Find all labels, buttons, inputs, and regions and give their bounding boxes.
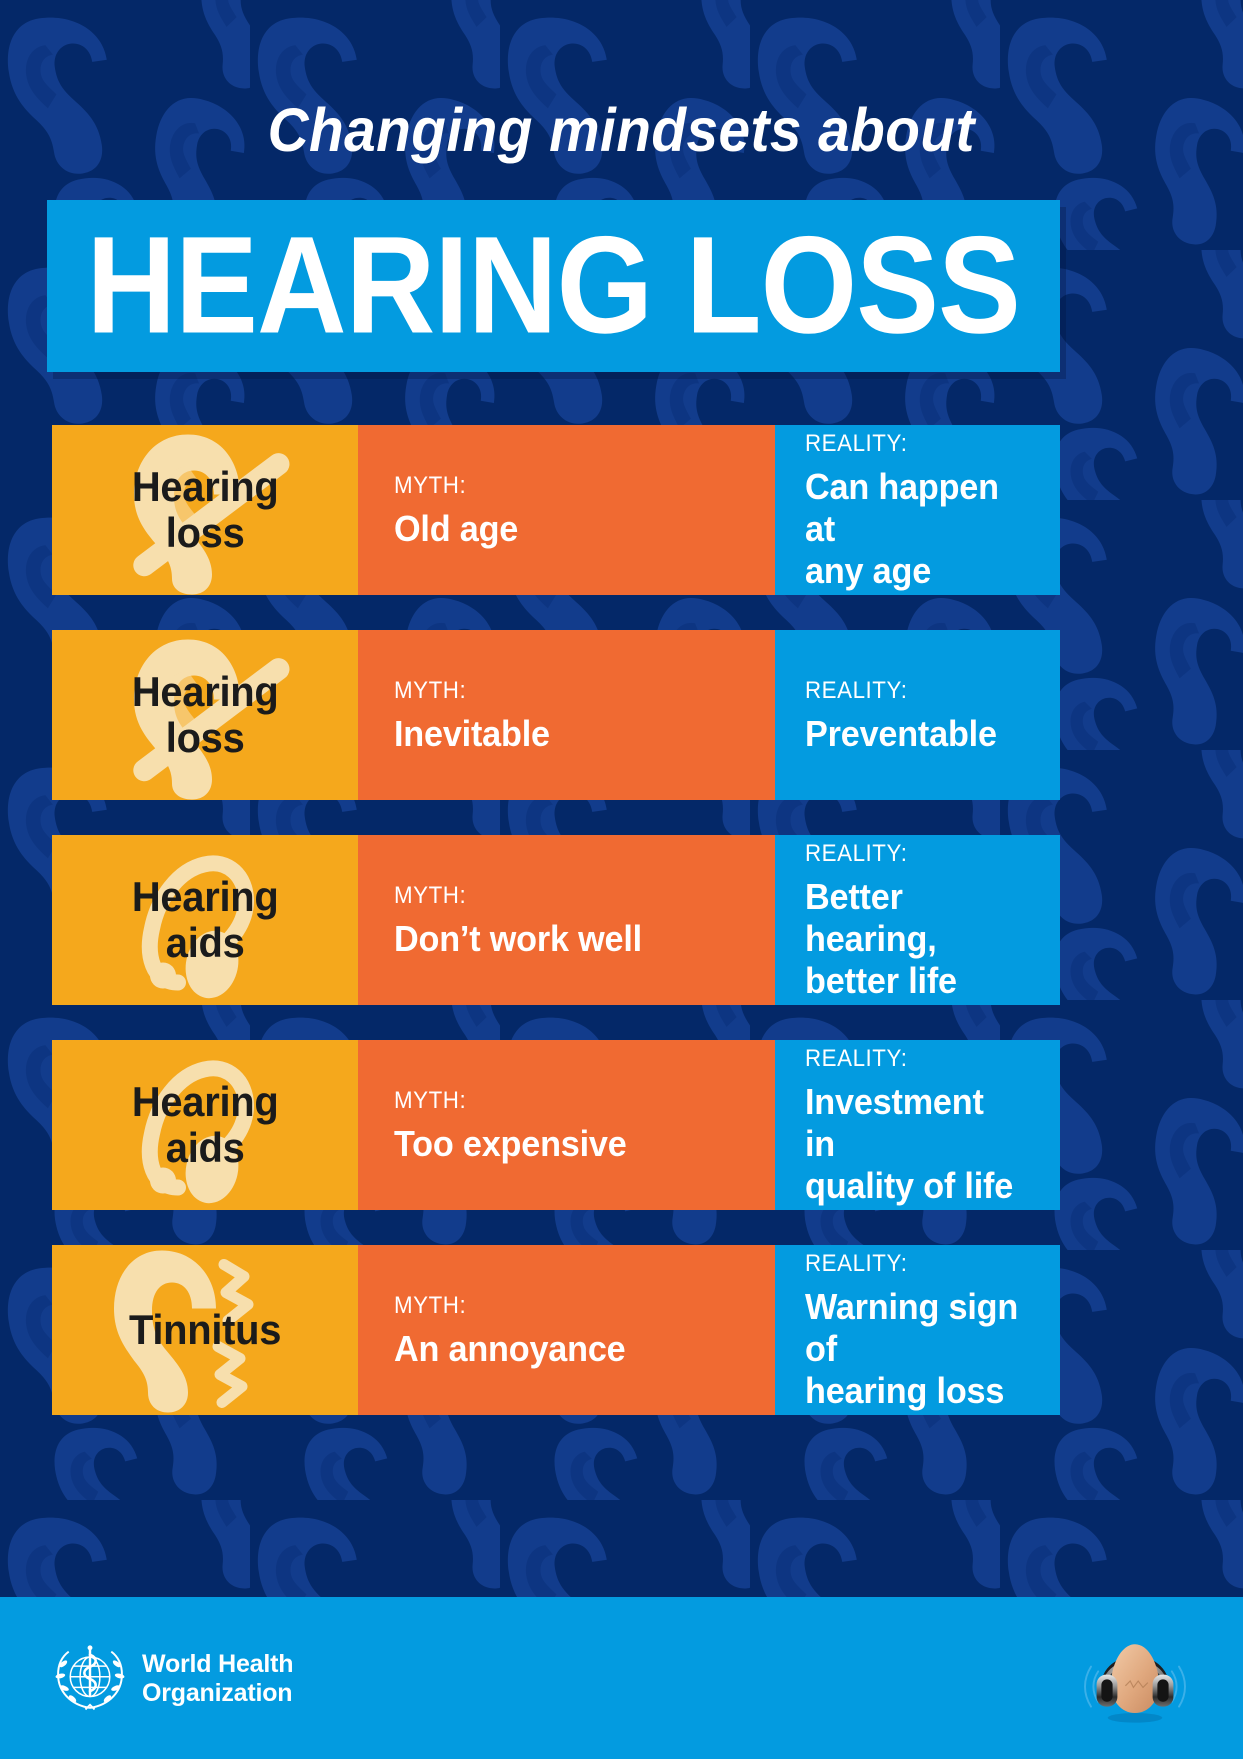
topic-cell: Hearingaids: [52, 1040, 358, 1210]
myth-reality-row: HearingaidsMYTH:Too expensiveREALITY:Inv…: [52, 1040, 1060, 1210]
poster-title-block: Changing mindsets about: [0, 96, 1243, 164]
topic-label: Hearingaids: [132, 874, 279, 966]
reality-kicker: REALITY:: [805, 839, 1018, 869]
reality-text: Preventable: [805, 713, 1023, 755]
reality-kicker: REALITY:: [805, 429, 1018, 459]
reality-text: Investment inquality of life: [805, 1081, 1023, 1207]
poster-footer: World Health Organization: [0, 1597, 1243, 1759]
myth-kicker: MYTH:: [394, 1291, 720, 1321]
reality-text: Can happen atany age: [805, 466, 1023, 592]
myth-cell: MYTH:An annoyance: [358, 1245, 775, 1415]
myth-kicker: MYTH:: [394, 676, 720, 706]
myth-reality-row: HearinglossMYTH:InevitableREALITY:Preven…: [52, 630, 1060, 800]
myth-text: Old age: [394, 508, 727, 550]
myth-cell: MYTH:Inevitable: [358, 630, 775, 800]
myth-reality-row: TinnitusMYTH:An annoyanceREALITY:Warning…: [52, 1245, 1060, 1415]
who-emblem-icon: [52, 1641, 128, 1717]
topic-cell: Hearingloss: [52, 630, 358, 800]
poster-title-band: HEARING LOSS: [47, 200, 1060, 372]
reality-cell: REALITY:Warning sign ofhearing loss: [775, 1245, 1060, 1415]
poster-subtitle: Changing mindsets about: [268, 96, 975, 164]
egg-with-headphones-icon: [1079, 1625, 1191, 1729]
who-wordmark: World Health Organization: [142, 1650, 293, 1708]
reality-kicker: REALITY:: [805, 1044, 1018, 1074]
reality-cell: REALITY:Better hearing,better life: [775, 835, 1060, 1005]
myth-reality-row: HearinglossMYTH:Old ageREALITY:Can happe…: [52, 425, 1060, 595]
reality-cell: REALITY:Can happen atany age: [775, 425, 1060, 595]
poster-root: Changing mindsets about HEARING LOSS Hea…: [0, 0, 1243, 1759]
topic-cell: Hearingloss: [52, 425, 358, 595]
myth-text: An annoyance: [394, 1328, 727, 1370]
who-logo: World Health Organization: [52, 1641, 293, 1717]
who-line-2: Organization: [142, 1679, 293, 1708]
reality-kicker: REALITY:: [805, 676, 1018, 706]
reality-kicker: REALITY:: [805, 1249, 1018, 1279]
myth-text: Inevitable: [394, 713, 727, 755]
page-title: HEARING LOSS: [87, 217, 1020, 355]
myth-text: Don’t work well: [394, 918, 727, 960]
myth-text: Too expensive: [394, 1123, 727, 1165]
myth-reality-row: HearingaidsMYTH:Don’t work wellREALITY:B…: [52, 835, 1060, 1005]
reality-text: Warning sign ofhearing loss: [805, 1286, 1023, 1412]
myth-kicker: MYTH:: [394, 471, 720, 501]
topic-label: Hearingloss: [132, 669, 279, 761]
myth-cell: MYTH:Too expensive: [358, 1040, 775, 1210]
who-line-1: World Health: [142, 1650, 293, 1679]
topic-cell: Tinnitus: [52, 1245, 358, 1415]
myth-cell: MYTH:Old age: [358, 425, 775, 595]
topic-label: Hearingaids: [132, 1079, 279, 1171]
myth-cell: MYTH:Don’t work well: [358, 835, 775, 1005]
myth-reality-list: HearinglossMYTH:Old ageREALITY:Can happe…: [52, 425, 1060, 1415]
reality-cell: REALITY:Investment inquality of life: [775, 1040, 1060, 1210]
topic-label: Tinnitus: [129, 1307, 281, 1353]
reality-cell: REALITY:Preventable: [775, 630, 1060, 800]
topic-label: Hearingloss: [132, 464, 279, 556]
myth-kicker: MYTH:: [394, 881, 720, 911]
topic-cell: Hearingaids: [52, 835, 358, 1005]
myth-kicker: MYTH:: [394, 1086, 720, 1116]
reality-text: Better hearing,better life: [805, 876, 1023, 1002]
